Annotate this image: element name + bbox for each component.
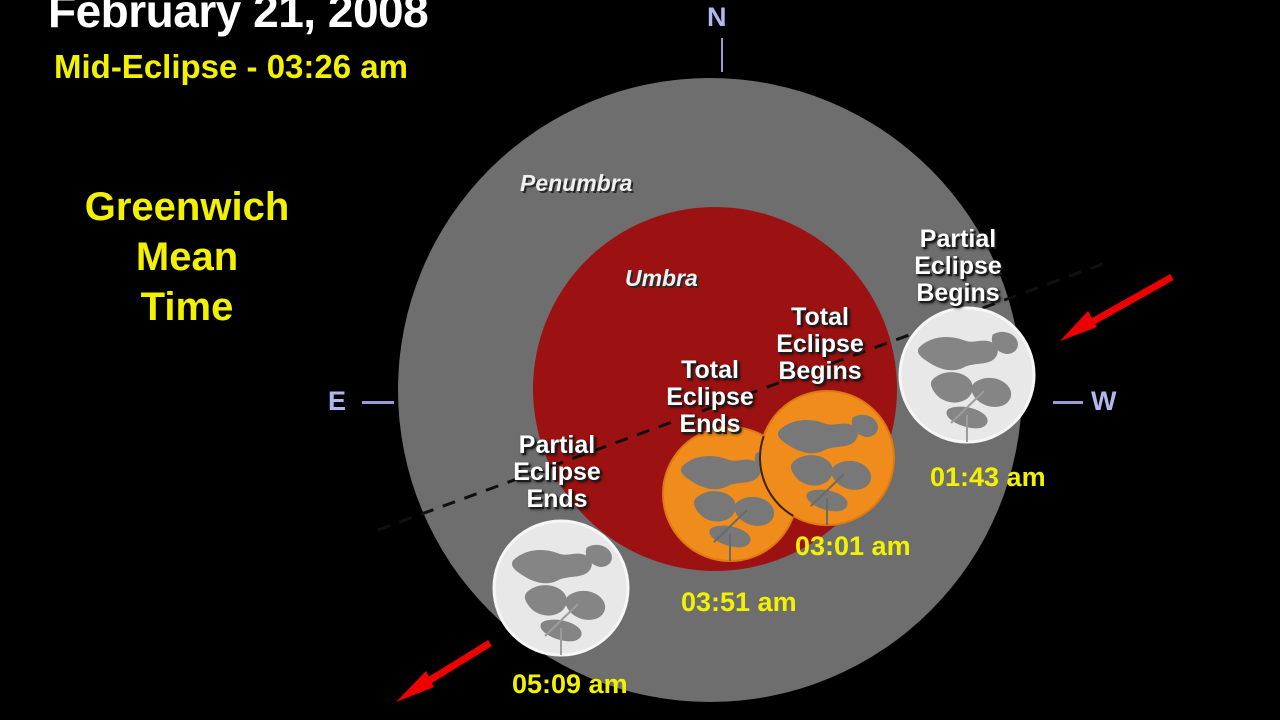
compass-north-label: N (707, 2, 727, 33)
moon-disc-0143 (900, 308, 1034, 442)
motion-arrow-upper-right (1060, 277, 1172, 341)
event-label-line: Begins (893, 280, 1023, 307)
compass-west-tick (1053, 401, 1083, 404)
event-label-line: Begins (762, 358, 878, 385)
time-total-eclipse-begins: 03:01 am (795, 531, 911, 562)
event-label-line: Total (762, 304, 878, 331)
event-label-line: Eclipse (650, 384, 770, 411)
motion-arrow-lower-left (396, 643, 490, 702)
compass-west-label: W (1091, 386, 1116, 417)
eclipse-diagram: Penumbra Umbra N E W Partial Eclipse Beg… (0, 0, 1280, 720)
event-label-line: Eclipse (762, 331, 878, 358)
compass-east-label: E (328, 386, 346, 417)
timezone-label-line: Time (42, 282, 332, 332)
compass-north-tick (721, 38, 723, 72)
mid-eclipse-time-label: Mid-Eclipse - 03:26 am (54, 48, 408, 86)
timezone-label: Greenwich Mean Time (42, 182, 332, 332)
timezone-label-line: Greenwich (42, 182, 332, 232)
timezone-label-line: Mean (42, 232, 332, 282)
moon-disc-0509 (494, 521, 628, 655)
eclipse-path-and-moons (0, 0, 1280, 720)
event-label-line: Eclipse (893, 253, 1023, 280)
event-label-line: Ends (650, 411, 770, 438)
event-label-partial-eclipse-ends: Partial Eclipse Ends (494, 432, 620, 513)
event-label-line: Partial (494, 432, 620, 459)
event-label-partial-eclipse-begins: Partial Eclipse Begins (893, 226, 1023, 307)
event-label-line: Eclipse (494, 459, 620, 486)
moon-disc-0301 (760, 391, 894, 525)
time-partial-eclipse-begins: 01:43 am (930, 462, 1046, 493)
page-title-date: February 21, 2008 (48, 0, 428, 38)
penumbra-label: Penumbra (520, 170, 632, 197)
time-total-eclipse-ends: 03:51 am (681, 587, 797, 618)
event-label-total-eclipse-ends: Total Eclipse Ends (650, 357, 770, 438)
time-partial-eclipse-ends: 05:09 am (512, 669, 628, 700)
umbra-label: Umbra (625, 265, 698, 292)
event-label-line: Ends (494, 486, 620, 513)
compass-east-tick (362, 401, 394, 404)
event-label-line: Partial (893, 226, 1023, 253)
event-label-total-eclipse-begins: Total Eclipse Begins (762, 304, 878, 385)
event-label-line: Total (650, 357, 770, 384)
